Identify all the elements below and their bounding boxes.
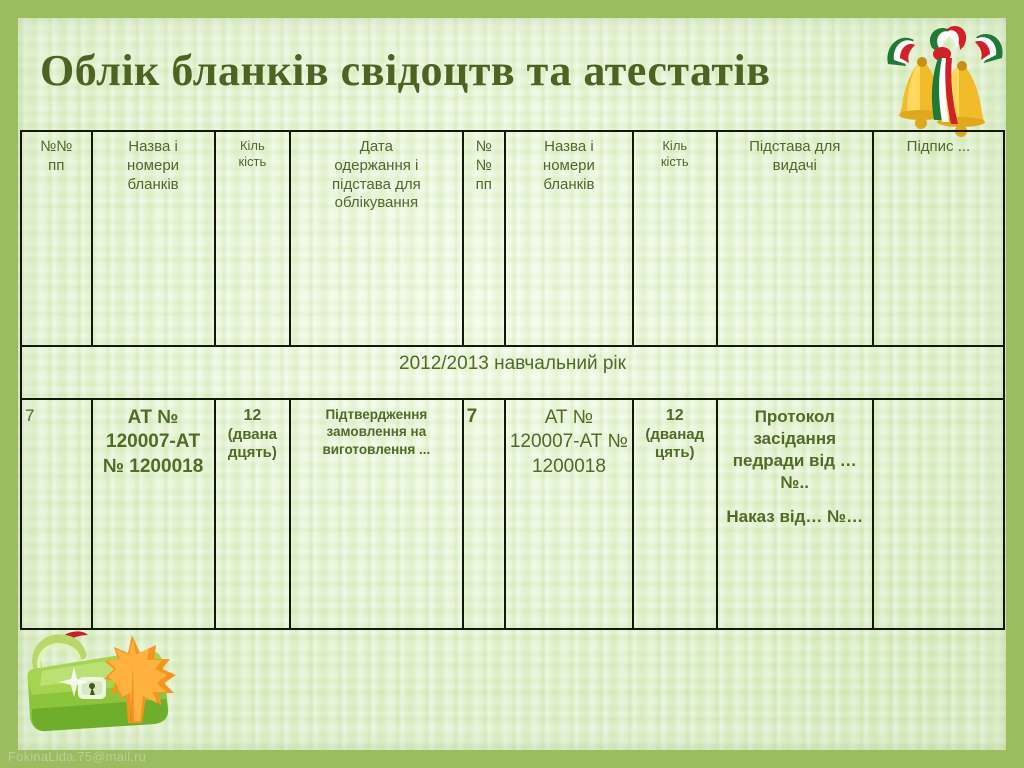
register-table: №№ пп Назва і номери бланків Кіль кість: [20, 130, 1005, 630]
header-cell-signature: Підпис ...: [873, 131, 1004, 346]
cell-qty-in-number: 12: [219, 406, 287, 426]
header-line: Кіль: [219, 138, 287, 154]
header-line: пп: [467, 176, 501, 195]
header-line: бланків: [96, 176, 211, 195]
header-cell-issue-basis: Підстава для видачі: [717, 131, 873, 346]
header-line: номери: [96, 157, 211, 176]
cell-qty-in: 12 (двана дцять): [215, 399, 291, 629]
header-line: номери: [509, 157, 629, 176]
header-line: підстава для: [294, 176, 458, 195]
cell-issue-basis: Протокол засідання педради від …№.. Нака…: [717, 399, 873, 629]
header-line: Назва і: [509, 138, 629, 157]
header-line: Дата: [294, 138, 458, 157]
cell-signature: [873, 399, 1004, 629]
header-line: облікування: [294, 194, 458, 213]
header-line: кість: [219, 154, 287, 170]
header-cell-date-basis: Дата одержання і підстава для облікуванн…: [290, 131, 462, 346]
cell-qty-out-number: 12: [637, 406, 713, 426]
page-title: Облік бланків свідоцтв та атестатів: [40, 48, 940, 94]
header-line: одержання і: [294, 157, 458, 176]
header-line: №: [467, 157, 501, 176]
cell-num-out: 7: [463, 399, 505, 629]
header-cell-qty-out: Кіль кість: [633, 131, 717, 346]
header-line: №№: [25, 138, 88, 157]
cell-date-basis: Підтвердження замовлення на виготовлення…: [290, 399, 462, 629]
cell-blanks-in: АТ № 120007-АТ № 1200018: [92, 399, 215, 629]
cell-issue-basis-line1: Протокол засідання педради від …№..: [733, 407, 857, 492]
header-line: видачі: [721, 157, 869, 176]
header-line: Назва і: [96, 138, 211, 157]
cell-qty-in-words: (двана дцять): [228, 426, 277, 462]
header-cell-blanks-in: Назва і номери бланків: [92, 131, 215, 346]
table-row: 7 АТ № 120007-АТ № 1200018 12 (двана дця…: [21, 399, 1004, 629]
header-line: Підстава для: [721, 138, 869, 157]
cell-qty-out-words: (дванад цять): [645, 426, 704, 462]
header-line: Підпис ...: [877, 138, 1000, 157]
cell-blanks-out: АТ № 120007-АТ № 1200018: [505, 399, 633, 629]
cell-qty-out: 12 (дванад цять): [633, 399, 717, 629]
header-cell-blanks-out: Назва і номери бланків: [505, 131, 633, 346]
cell-num-in: 7: [21, 399, 92, 629]
header-line: Кіль: [637, 138, 713, 154]
slide-canvas: Облік бланків свідоцтв та атестатів: [0, 0, 1024, 768]
table-header-row: №№ пп Назва і номери бланків Кіль кість: [21, 131, 1004, 346]
header-line: кість: [637, 154, 713, 170]
academic-year-cell: 2012/2013 навчальний рік: [21, 346, 1004, 398]
header-cell-num-in: №№ пп: [21, 131, 92, 346]
watermark-email: FokinaLida.75@mail.ru: [8, 749, 146, 764]
header-cell-qty-in: Кіль кість: [215, 131, 291, 346]
header-cell-num-out: № № пп: [463, 131, 505, 346]
header-line: №: [467, 138, 501, 157]
table-year-row: 2012/2013 навчальний рік: [21, 346, 1004, 398]
cell-issue-basis-line2: Наказ від… №…: [721, 506, 869, 528]
header-line: пп: [25, 157, 88, 176]
header-line: бланків: [509, 176, 629, 195]
